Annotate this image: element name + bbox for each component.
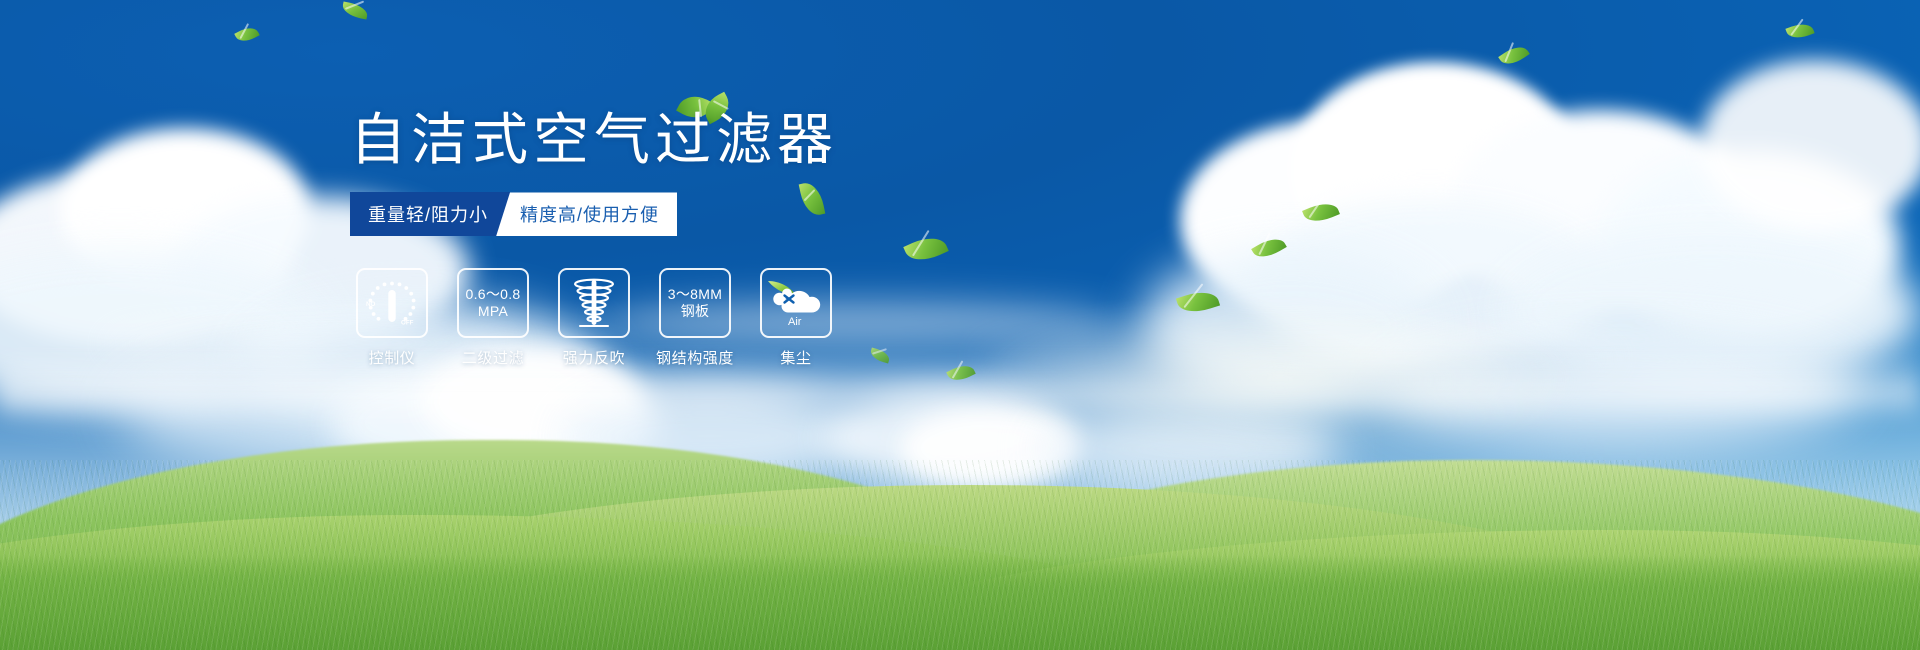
tag-label: 精度高/使用方便 (520, 201, 659, 227)
feature-two-stage-filter: 0.6～0.8 MPA 二级过滤 (457, 268, 529, 368)
grass-texture (0, 460, 1920, 650)
feature-label: 钢结构强度 (656, 347, 734, 368)
steel-thickness: 3～8MM (668, 286, 722, 303)
feature-label: 二级过滤 (462, 347, 524, 368)
pressure-range: 0.6～0.8 (465, 286, 520, 303)
feature-label: 强力反吹 (563, 347, 625, 368)
steel-plate-text-icon: 3～8MM 钢板 (668, 286, 722, 320)
feature-icon-box (558, 268, 630, 338)
feature-icon-box: Air (760, 268, 832, 338)
cloud-shape (1700, 60, 1920, 230)
feature-icon-box: 0.6～0.8 MPA (457, 268, 529, 338)
svg-text:NO: NO (366, 301, 375, 308)
feature-controller: NO OFF 控制仪 (356, 268, 428, 368)
air-label: Air (788, 316, 802, 328)
feature-tag-group: 重量轻/阻力小 精度高/使用方便 (350, 192, 668, 236)
coil-blowback-icon (569, 276, 619, 330)
pressure-unit: MPA (465, 303, 520, 320)
air-cloud-icon: Air (766, 275, 826, 331)
steel-material: 钢板 (668, 303, 722, 320)
grass-field (0, 350, 1920, 650)
feature-icon-box: 3～8MM 钢板 (659, 268, 731, 338)
banner-content: 自洁式空气过滤器 重量轻/阻力小 精度高/使用方便 (350, 110, 1050, 236)
sun-flare (970, 290, 1590, 470)
feature-label: 控制仪 (369, 347, 416, 368)
hero-banner: 自洁式空气过滤器 重量轻/阻力小 精度高/使用方便 (0, 0, 1920, 650)
feature-label: 集尘 (780, 347, 811, 368)
svg-text:OFF: OFF (401, 320, 414, 327)
feature-icon-row: NO OFF 控制仪 0.6～0.8 MPA 二级过滤 (356, 268, 832, 368)
tag-label: 重量轻/阻力小 (368, 201, 488, 227)
page-title: 自洁式空气过滤器 (350, 110, 1050, 170)
gauge-icon: NO OFF (363, 276, 421, 330)
feature-strong-blowback: 强力反吹 (558, 268, 630, 368)
feature-dust-collection: Air 集尘 (760, 268, 832, 368)
tag-weight-resistance: 重量轻/阻力小 (350, 192, 510, 236)
feature-steel-strength: 3～8MM 钢板 钢结构强度 (659, 268, 731, 368)
pressure-text-icon: 0.6～0.8 MPA (465, 286, 520, 320)
tag-precision-ease: 精度高/使用方便 (496, 192, 677, 236)
feature-icon-box: NO OFF (356, 268, 428, 338)
